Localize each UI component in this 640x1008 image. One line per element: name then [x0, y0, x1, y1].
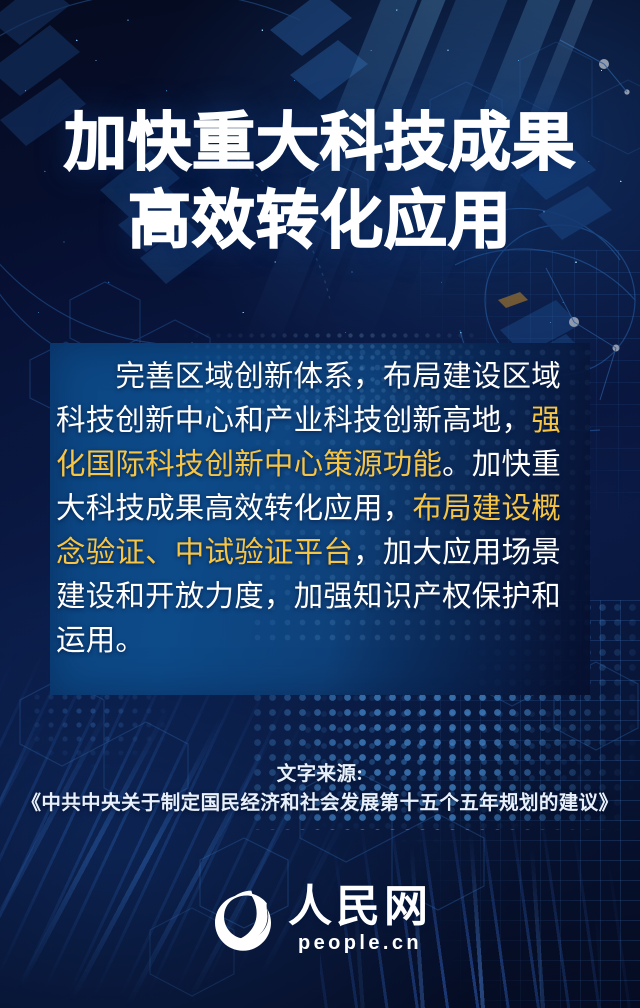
body-paragraph-line: 科技创新中心和产业科技创新高地，强 — [50, 399, 590, 443]
body-text-run: 完善区域创新体系，布局建设区域 — [56, 360, 561, 393]
body-text-run: ，加大应用场景 — [353, 536, 561, 569]
source-attribution: 文字来源: 《中共中央关于制定国民经济和社会发展第十五个五年规划的建议》 — [0, 760, 640, 818]
body-paragraph-line: 完善区域创新体系，布局建设区域 — [50, 355, 590, 399]
body-text-highlight: 念验证、中试验证平台 — [56, 536, 353, 569]
body-paragraph-line: 建设和开放力度，加强知识产权保护和 — [50, 575, 590, 619]
body-paragraph: 完善区域创新体系，布局建设区域科技创新中心和产业科技创新高地，强化国际科技创新中… — [50, 355, 590, 663]
poster-canvas: 加快重大科技成果 高效转化应用 完善区域创新体系，布局建设区域科技创新中心和产业… — [0, 0, 640, 1008]
body-text-run: 科技创新中心和产业科技创新高地， — [56, 404, 531, 437]
source-label: 文字来源: — [0, 760, 640, 789]
logo-wordmark: 人民网 people.cn — [288, 884, 432, 955]
page-title-line-2: 高效转化应用 — [0, 182, 640, 260]
body-text-run: 。加快重 — [442, 448, 561, 481]
logo-chinese-name: 人民网 — [288, 884, 432, 930]
body-paragraph-line: 念验证、中试验证平台，加大应用场景 — [50, 531, 590, 575]
body-paragraph-line: 化国际科技创新中心策源功能。加快重 — [50, 443, 590, 487]
body-text-run: 建设和开放力度，加强知识产权保护和 — [56, 580, 561, 613]
people-cn-globe-icon — [208, 885, 278, 955]
logo-english-name: people.cn — [298, 931, 422, 955]
body-text-highlight: 布局建设概 — [412, 492, 561, 525]
source-document-title: 《中共中央关于制定国民经济和社会发展第十五个五年规划的建议》 — [0, 789, 640, 818]
body-text-highlight: 强 — [531, 404, 561, 437]
page-title: 加快重大科技成果 高效转化应用 — [0, 104, 640, 260]
body-text-run: 大科技成果高效转化应用， — [56, 492, 412, 525]
body-text-highlight: 化国际科技创新中心策源功能 — [56, 448, 442, 481]
people-cn-logo[interactable]: 人民网 people.cn — [0, 884, 640, 955]
body-text-run: 运用。 — [56, 624, 145, 657]
body-paragraph-line: 运用。 — [50, 619, 590, 663]
page-title-line-1: 加快重大科技成果 — [0, 104, 640, 182]
body-paragraph-line: 大科技成果高效转化应用，布局建设概 — [50, 487, 590, 531]
